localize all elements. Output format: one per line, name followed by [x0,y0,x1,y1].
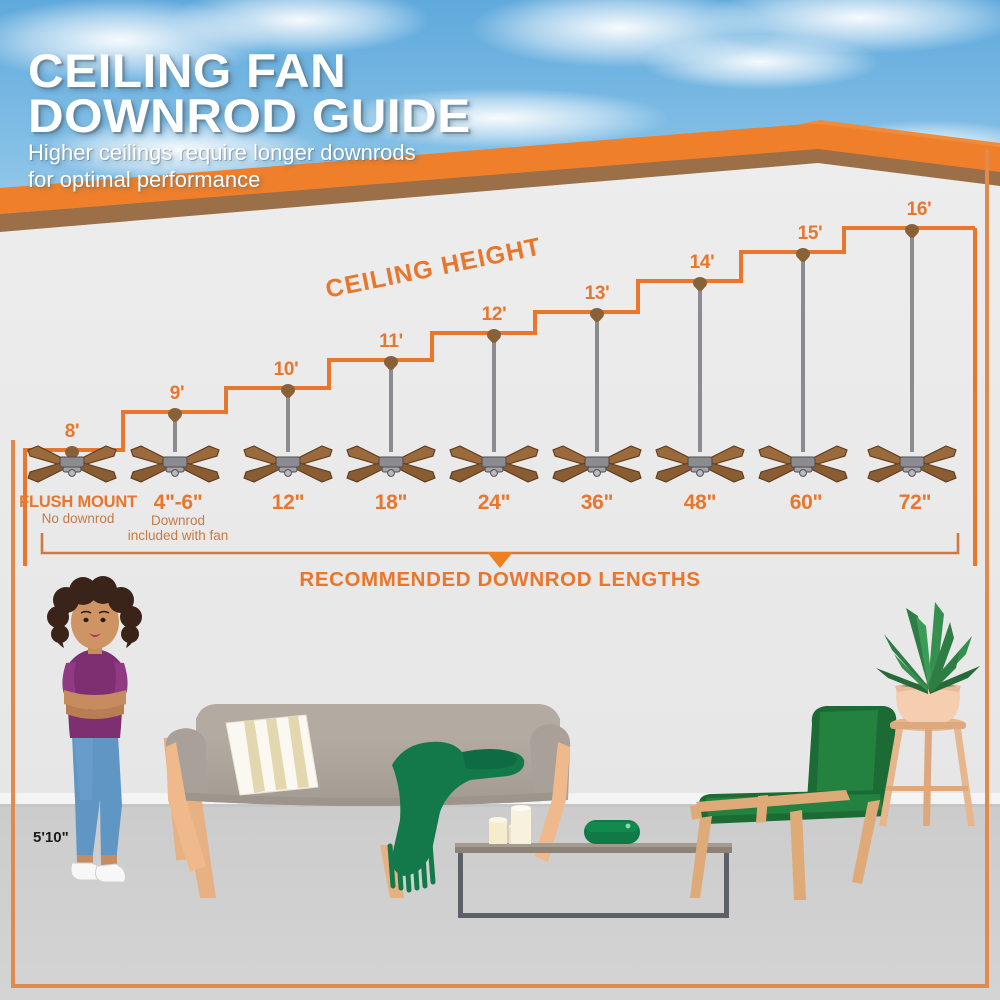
ceiling-height-label-2: 9' [170,383,185,405]
downrod-label-8: 60" [790,491,822,515]
ceiling-height-label-5: 12' [482,304,507,326]
page-title-line1: CEILING FAN [28,48,471,93]
person-height-label: 5'10" [33,829,69,846]
ceiling-height-label-3: 10' [274,359,299,381]
downrod-label-6: 36" [581,491,613,515]
page-subtitle-line1: Higher ceilings require longer downrods [28,140,450,165]
page-title-line2: DOWNROD GUIDE [28,93,471,138]
downrod-label-7: 48" [684,491,716,515]
downrod-label-9: 72" [899,491,931,515]
page-subtitle-line2: for optimal performance [28,167,450,192]
infographic-root: CEILING FAN DOWNROD GUIDE Higher ceiling… [0,0,1000,1000]
ceiling-height-label-1: 8' [65,421,80,443]
striped-pillow [226,715,318,795]
downrod-label-5: 24" [478,491,510,515]
downrod-label-4: 18" [375,491,407,515]
green-bowl [584,820,640,844]
downrod-note-2b: included with fan [128,528,229,543]
ceiling-height-label-9: 16' [907,199,932,221]
downrod-label-1: FLUSH MOUNT [19,493,137,512]
downrod-note-1: No downrod [42,511,115,526]
ceiling-height-label-7: 14' [690,252,715,274]
ceiling-height-label-6: 13' [585,283,610,305]
downrod-label-3: 12" [272,491,304,515]
title-block: CEILING FAN DOWNROD GUIDE Higher ceiling… [28,48,450,192]
ceiling-height-label-4: 11' [379,331,403,353]
downrod-note-2a: Downrod [151,513,205,528]
downrod-label-2: 4"-6" [154,491,203,515]
ceiling-height-label-8: 15' [798,223,823,245]
recommended-downrod-lengths-label: RECOMMENDED DOWNROD LENGTHS [299,568,700,592]
